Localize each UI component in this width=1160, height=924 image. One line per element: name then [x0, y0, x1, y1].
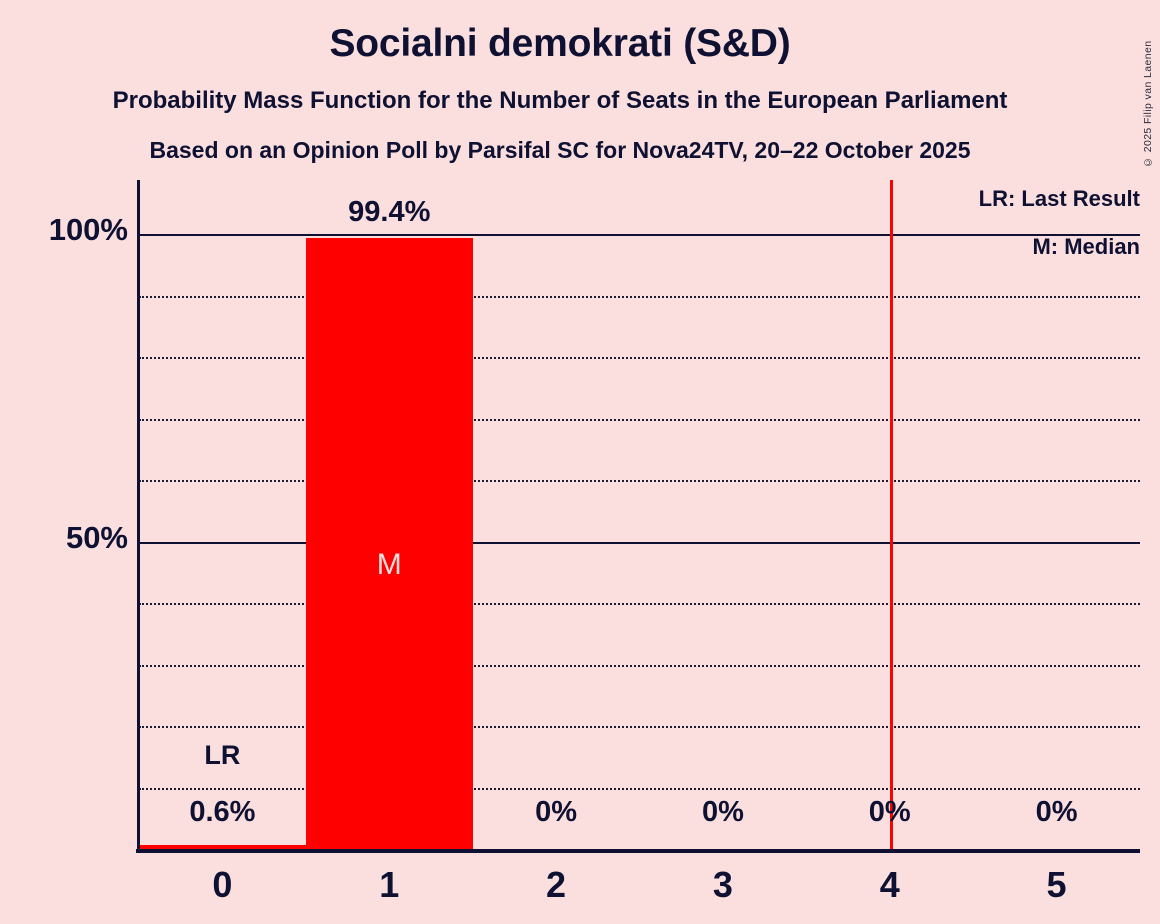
gridline-minor: [139, 726, 1140, 728]
gridline-minor: [139, 665, 1140, 667]
x-axis-tick-label: 2: [473, 864, 640, 906]
bar-value-label: 0%: [806, 796, 973, 829]
x-axis-tick-label: 0: [139, 864, 306, 906]
median-marker-label: M: [306, 548, 473, 582]
gridline-minor: [139, 788, 1140, 790]
chart-canvas: Socialni demokrati (S&D) Probability Mas…: [0, 0, 1160, 924]
x-axis-tick-label: 4: [806, 864, 973, 906]
bar-value-label: 0%: [473, 796, 640, 829]
x-axis-tick-label: 3: [640, 864, 807, 906]
last-result-line: [890, 180, 893, 849]
x-axis-tick-label: 5: [973, 864, 1140, 906]
chart-subtitle: Probability Mass Function for the Number…: [0, 87, 1120, 115]
gridline-minor: [139, 357, 1140, 359]
last-result-marker-label: LR: [139, 740, 306, 771]
gridline-major: [139, 542, 1140, 544]
y-axis-tick-label: 50%: [66, 520, 128, 556]
chart-source-note: Based on an Opinion Poll by Parsifal SC …: [0, 137, 1120, 164]
copyright-notice: © 2025 Filip van Laenen: [1142, 8, 1158, 168]
page-title: Socialni demokrati (S&D): [0, 22, 1120, 66]
gridline-minor: [139, 603, 1140, 605]
bar-value-label: 0.6%: [139, 796, 306, 829]
gridline-minor: [139, 480, 1140, 482]
y-axis-tick-label: 100%: [49, 212, 128, 248]
bar[interactable]: M: [306, 238, 473, 849]
bar-value-label: 0%: [973, 796, 1140, 829]
x-axis-line: [136, 849, 1140, 853]
bar-value-label: 99.4%: [306, 196, 473, 229]
x-axis-tick-label: 1: [306, 864, 473, 906]
gridline-minor: [139, 296, 1140, 298]
gridline-minor: [139, 419, 1140, 421]
bar-value-label: 0%: [640, 796, 807, 829]
gridline-major: [139, 234, 1140, 236]
